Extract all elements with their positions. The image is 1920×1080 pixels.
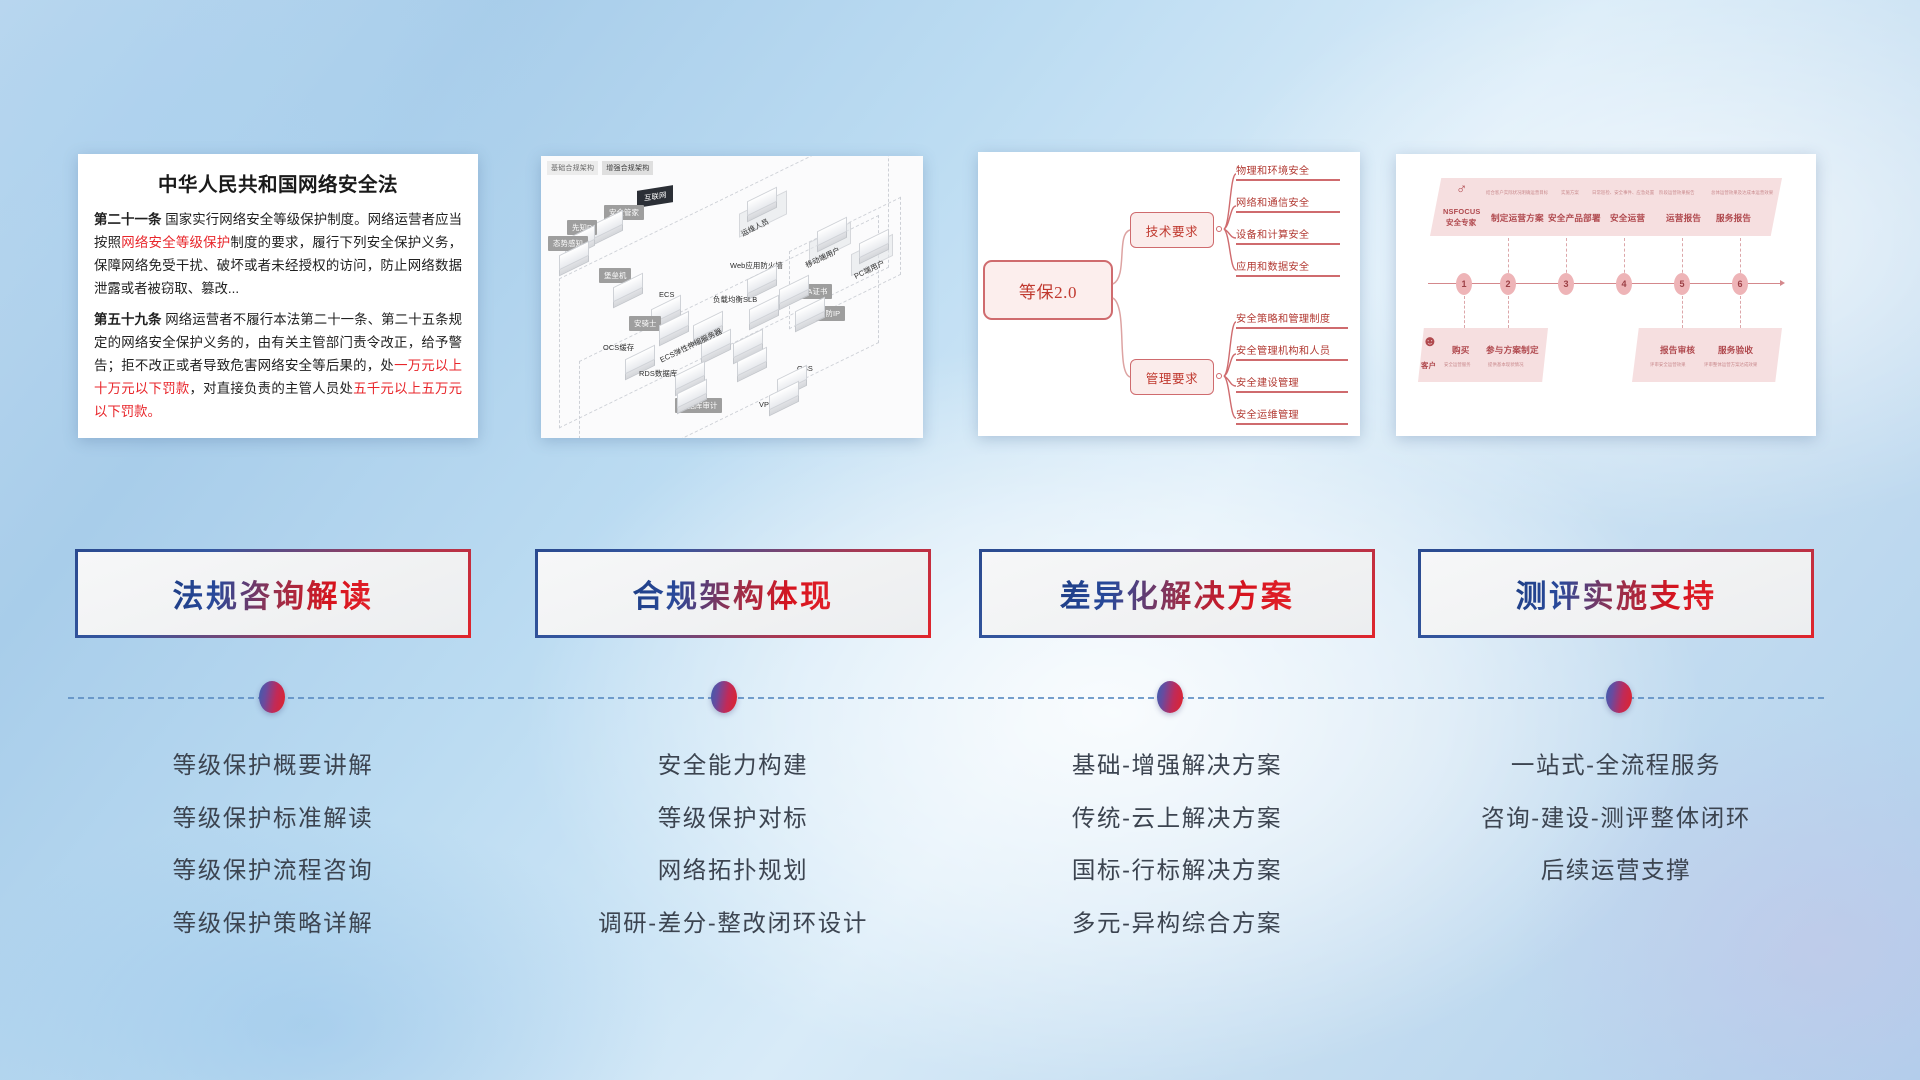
article-body: 网络运营者不履行本法第二十一条、第二十五条规定的网络安全保护义务的，由有关主管部… xyxy=(94,312,462,419)
mindmap-leaf: 网络和通信安全 xyxy=(1236,194,1340,213)
list-item: 网络拓扑规划 xyxy=(533,859,933,883)
bottom-step-note: 评审整体运营方案达成效果 xyxy=(1704,362,1757,368)
service-list-4: 一站式-全流程服务 咨询-建设-测评整体闭环 后续运营支撑 xyxy=(1416,754,1816,883)
nsfocus-timeline-card: ♂ NSFOCUS 安全专家 结合客户实际状况明确运营目标 制定运营方案 实施方… xyxy=(1396,154,1816,436)
list-item: 一站式-全流程服务 xyxy=(1416,754,1816,778)
expert-name: NSFOCUS xyxy=(1443,207,1481,216)
timeline-arrow-icon xyxy=(1780,280,1785,286)
expert-band xyxy=(1430,178,1782,236)
list-item: 咨询-建设-测评整体闭环 xyxy=(1416,807,1816,831)
headline-box-3[interactable]: 差异化解决方案 xyxy=(977,547,1377,640)
expert-role: 安全专家 xyxy=(1446,217,1476,228)
mindmap-leaf: 应用和数据安全 xyxy=(1236,258,1340,277)
bottom-step-note: 评审安全运营效果 xyxy=(1650,362,1686,368)
article-number: 第五十九条 xyxy=(94,312,161,327)
mindmap-leaf: 安全运维管理 xyxy=(1236,406,1348,425)
mindmap-leaf: 安全策略和管理制度 xyxy=(1236,310,1348,329)
bottom-step-note: 提供基本现状情况 xyxy=(1488,362,1524,368)
headline-label: 差异化解决方案 xyxy=(1060,571,1295,616)
cloud-architecture-card: 基础合规架构 增强合规架构 互联网 安全管家 先知D 态势感知 堡垒机 运维人员 xyxy=(541,156,923,438)
bottom-step-label: 服务验收 xyxy=(1718,344,1753,356)
timeline-dashed-line xyxy=(68,697,1824,699)
top-step-note: 结合客户实际状况明确运营目标 xyxy=(1486,190,1548,196)
top-step-label: 运营报告 xyxy=(1666,212,1701,224)
law-title: 中华人民共和国网络安全法 xyxy=(94,168,462,197)
law-article-21: 第二十一条 国家实行网络安全等级保护制度。网络运营者应当按照网络安全等级保护制度… xyxy=(94,208,462,300)
list-item: 基础-增强解决方案 xyxy=(977,754,1377,778)
top-step-label: 安全产品部署 xyxy=(1548,212,1601,224)
top-step-label: 安全运营 xyxy=(1610,212,1645,224)
dengbao-mindmap-card: 等保2.0 技术要求 管理要求 物理和环境安全 网络和通信安全 xyxy=(978,152,1360,436)
list-item: 等级保护标准解读 xyxy=(73,807,473,831)
bottom-step-label: 参与方案制定 xyxy=(1486,344,1539,356)
top-step-label: 服务报告 xyxy=(1716,212,1751,224)
bottom-step-label: 报告审核 xyxy=(1660,344,1695,356)
list-item: 安全能力构建 xyxy=(533,754,933,778)
timeline-node-3[interactable] xyxy=(1157,681,1183,713)
timeline-node-2[interactable] xyxy=(711,681,737,713)
timeline-axis xyxy=(1428,283,1780,284)
timeline-step: 6 xyxy=(1732,273,1748,295)
customer-icon: ☻ xyxy=(1422,334,1438,349)
top-step-note: 日常巡检、安全事件、应急处置 xyxy=(1592,190,1654,196)
timeline-step: 3 xyxy=(1558,273,1574,295)
expert-icon: ♂ xyxy=(1456,182,1467,197)
headline-label: 合规架构体现 xyxy=(633,571,834,616)
tab-basic-compliance[interactable]: 基础合规架构 xyxy=(547,161,598,175)
timeline-step: 5 xyxy=(1674,273,1690,295)
list-item: 国标-行标解决方案 xyxy=(977,859,1377,883)
node-label-rds: RDS数据库 xyxy=(639,368,677,379)
top-step-note: 阶段运营效果报告 xyxy=(1659,190,1695,196)
list-item: 等级保护策略详解 xyxy=(73,912,473,936)
headline-box-4[interactable]: 测评实施支持 xyxy=(1416,547,1816,640)
law-article-59: 第五十九条 网络运营者不履行本法第二十一条、第二十五条规定的网络安全保护义务的，… xyxy=(94,308,462,423)
mindmap-leaf: 设备和计算安全 xyxy=(1236,226,1340,245)
top-step-label: 制定运营方案 xyxy=(1491,212,1544,224)
tab-enhanced-compliance[interactable]: 增强合规架构 xyxy=(602,161,653,175)
mindmap-leaf: 安全管理机构和人员 xyxy=(1236,342,1348,361)
timeline-step: 4 xyxy=(1616,273,1632,295)
article-number: 第二十一条 xyxy=(94,212,161,227)
top-step-note: 总体运营效果及达成本运营效果 xyxy=(1711,190,1773,196)
headline-box-2[interactable]: 合规架构体现 xyxy=(533,547,933,640)
architecture-tab-bar[interactable]: 基础合规架构 增强合规架构 xyxy=(547,161,653,175)
list-item: 等级保护概要讲解 xyxy=(73,754,473,778)
headline-box-1[interactable]: 法规咨询解读 xyxy=(73,547,473,640)
headline-label: 测评实施支持 xyxy=(1516,571,1717,616)
timeline-step: 2 xyxy=(1500,273,1516,295)
list-item: 调研-差分-整改闭环设计 xyxy=(533,912,933,936)
service-list-3: 基础-增强解决方案 传统-云上解决方案 国标-行标解决方案 多元-异构综合方案 xyxy=(977,754,1377,935)
node-label-anqishi: 安骑士 xyxy=(629,316,661,331)
service-list-1: 等级保护概要讲解 等级保护标准解读 等级保护流程咨询 等级保护策略详解 xyxy=(73,754,473,935)
list-item: 传统-云上解决方案 xyxy=(977,807,1377,831)
customer-band-right xyxy=(1632,328,1782,382)
list-item: 多元-异构综合方案 xyxy=(977,912,1377,936)
list-item: 等级保护流程咨询 xyxy=(73,859,473,883)
mindmap-leaf: 物理和环境安全 xyxy=(1236,162,1340,181)
timeline-node-1[interactable] xyxy=(259,681,285,713)
timeline-step: 1 xyxy=(1456,273,1472,295)
top-step-note: 实施方案 xyxy=(1561,190,1579,196)
headline-label: 法规咨询解读 xyxy=(173,571,374,616)
bottom-step-label: 购买 xyxy=(1452,344,1470,356)
timeline-node-4[interactable] xyxy=(1606,681,1632,713)
bottom-step-note: 安全运营服务 xyxy=(1444,362,1471,368)
mindmap-leaf: 安全建设管理 xyxy=(1236,374,1348,393)
service-list-2: 安全能力构建 等级保护对标 网络拓扑规划 调研-差分-整改闭环设计 xyxy=(533,754,933,935)
customer-role: 客户 xyxy=(1421,360,1436,371)
list-item: 后续运营支撑 xyxy=(1416,859,1816,883)
list-item: 等级保护对标 xyxy=(533,807,933,831)
cybersecurity-law-card: 中华人民共和国网络安全法 第二十一条 国家实行网络安全等级保护制度。网络运营者应… xyxy=(78,154,478,438)
